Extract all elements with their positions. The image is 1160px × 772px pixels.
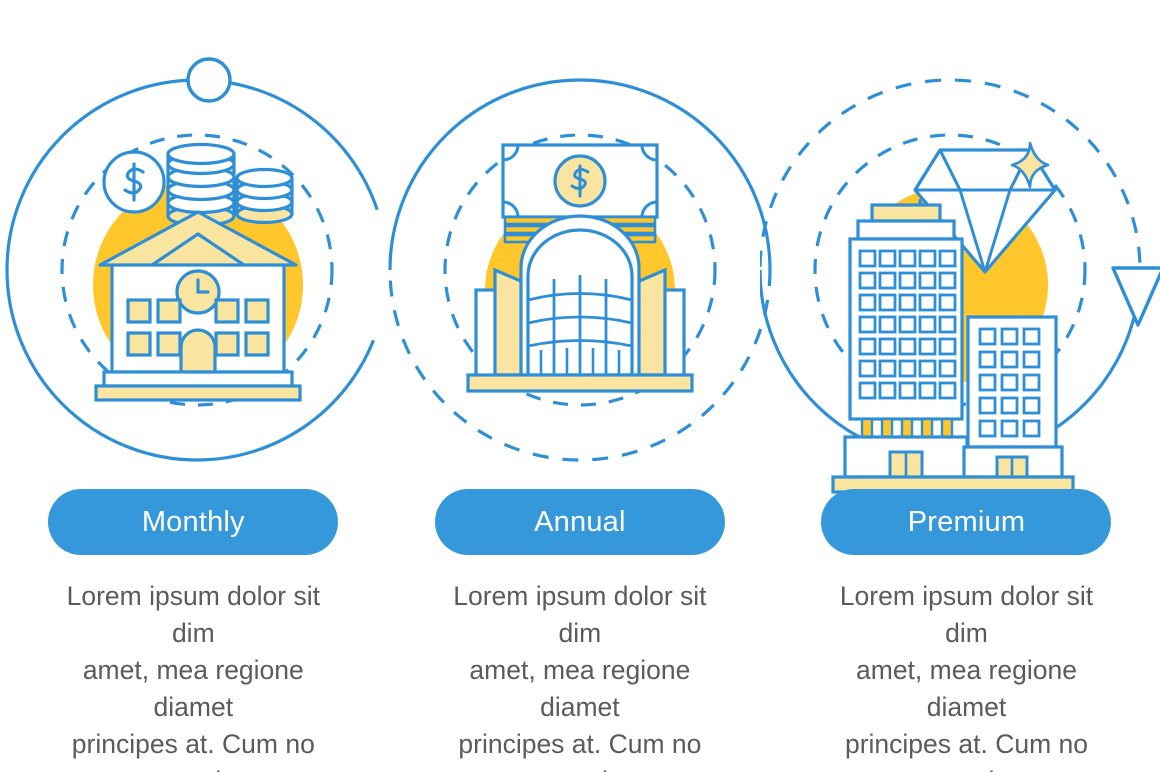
infographic-canvas: Monthly Lorem ipsum dolor sit dim amet, …	[0, 0, 1160, 772]
dollar-banknote	[503, 145, 657, 217]
plan-column-annual: Annual Lorem ipsum dolor sit dim amet, m…	[387, 489, 774, 772]
plan-description-premium: Lorem ipsum dolor sit dim amet, mea regi…	[821, 578, 1111, 772]
plan-button-monthly[interactable]: Monthly	[48, 489, 338, 555]
icon-bank-with-banknote	[468, 145, 692, 391]
plan-button-annual[interactable]: Annual	[435, 489, 725, 555]
plan-column-premium: Premium Lorem ipsum dolor sit dim amet, …	[773, 489, 1160, 772]
end-triangle-arrowhead	[1113, 268, 1160, 325]
icon-skyscrapers-with-diamond	[833, 143, 1073, 492]
start-circle-node	[188, 59, 230, 101]
dollar-coin-circle	[104, 152, 164, 212]
short-coin-stack	[237, 170, 292, 223]
plan-column-monthly: Monthly Lorem ipsum dolor sit dim amet, …	[0, 489, 387, 772]
plan-description-annual: Lorem ipsum dolor sit dim amet, mea regi…	[435, 578, 725, 772]
icon-house-with-coins	[93, 145, 303, 401]
plan-button-premium[interactable]: Premium	[821, 489, 1111, 555]
plan-label-premium: Premium	[908, 506, 1025, 539]
plan-label-annual: Annual	[534, 506, 626, 539]
plan-columns: Monthly Lorem ipsum dolor sit dim amet, …	[0, 489, 1160, 772]
tall-tower	[845, 205, 967, 477]
plan-label-monthly: Monthly	[142, 506, 245, 539]
plan-description-monthly: Lorem ipsum dolor sit dim amet, mea regi…	[48, 578, 338, 772]
